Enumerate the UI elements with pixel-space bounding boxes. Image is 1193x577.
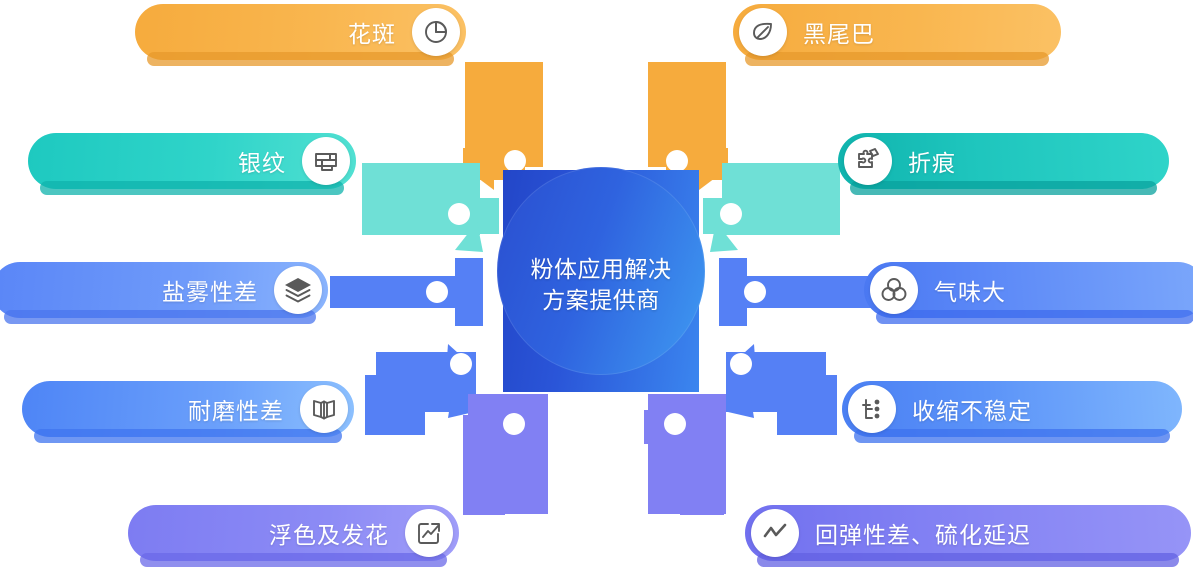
connector-yan-wu-xing-cha bbox=[330, 258, 483, 326]
brick-wall-icon bbox=[302, 137, 350, 185]
connector-hui-tan bbox=[644, 394, 726, 515]
node-label: 回弹性差、硫化延迟 bbox=[815, 516, 1031, 550]
connector-zhe-hen bbox=[703, 163, 840, 252]
connector-yin-wen bbox=[362, 163, 499, 252]
line-chart-icon bbox=[751, 509, 799, 557]
node-label: 浮色及发花 bbox=[269, 516, 389, 550]
pie-chart-icon bbox=[412, 8, 460, 56]
center-label: 粉体应用解决 方案提供商 bbox=[503, 254, 699, 316]
sitemap-icon bbox=[848, 385, 896, 433]
trending-box-icon bbox=[405, 509, 453, 557]
puzzle-icon bbox=[844, 137, 892, 185]
pill-shadow bbox=[140, 553, 447, 567]
node-label: 耐磨性差 bbox=[188, 392, 284, 426]
connector-qi-wei-da bbox=[719, 258, 872, 326]
pill-shadow bbox=[147, 52, 454, 66]
open-book-icon bbox=[300, 385, 348, 433]
node-hui-tan[interactable]: 回弹性差、硫化延迟 bbox=[745, 505, 1191, 561]
pill-shadow bbox=[850, 181, 1157, 195]
node-shou-suo[interactable]: 收缩不稳定 bbox=[842, 381, 1182, 437]
node-label: 收缩不稳定 bbox=[912, 392, 1032, 426]
node-yin-wen[interactable]: 银纹 bbox=[28, 133, 356, 189]
node-hei-wei-ba[interactable]: 黑尾巴 bbox=[733, 4, 1061, 60]
node-fu-se-fa-hua[interactable]: 浮色及发花 bbox=[128, 505, 459, 561]
recycle-icon bbox=[870, 266, 918, 314]
node-hua-ban[interactable]: 花斑 bbox=[135, 4, 466, 60]
node-qi-wei-da[interactable]: 气味大 bbox=[864, 262, 1193, 318]
pill-shadow bbox=[745, 52, 1049, 66]
node-nai-mo-xing-cha[interactable]: 耐磨性差 bbox=[22, 381, 354, 437]
node-label: 盐雾性差 bbox=[162, 273, 258, 307]
center-node: 粉体应用解决 方案提供商 bbox=[503, 170, 699, 392]
connector-nai-mo-xing-cha bbox=[365, 344, 476, 435]
leaf-icon bbox=[739, 8, 787, 56]
pill-shadow bbox=[876, 310, 1193, 324]
node-label: 花斑 bbox=[348, 15, 396, 49]
node-yan-wu-xing-cha[interactable]: 盐雾性差 bbox=[0, 262, 328, 318]
infographic-canvas: 粉体应用解决 方案提供商 花斑 黑尾巴 银纹 bbox=[0, 0, 1193, 577]
pill-shadow bbox=[854, 429, 1170, 443]
layers-icon bbox=[274, 266, 322, 314]
node-zhe-hen[interactable]: 折痕 bbox=[838, 133, 1169, 189]
connector-fu-se-fa-hua bbox=[463, 394, 548, 515]
connector-shou-suo bbox=[726, 344, 837, 435]
node-label: 折痕 bbox=[908, 144, 956, 178]
pill-shadow bbox=[757, 553, 1179, 567]
node-label: 银纹 bbox=[238, 144, 286, 178]
pill-shadow bbox=[40, 181, 344, 195]
pill-shadow bbox=[4, 310, 316, 324]
node-label: 黑尾巴 bbox=[803, 15, 875, 49]
node-label: 气味大 bbox=[934, 273, 1006, 307]
pill-shadow bbox=[34, 429, 342, 443]
